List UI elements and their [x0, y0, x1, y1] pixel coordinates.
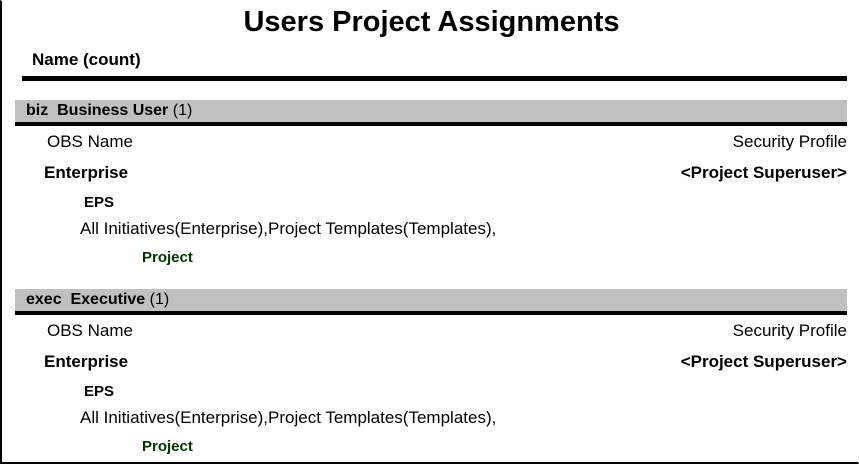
- eps-list-row-exec: All Initiatives(Enterprise),Project Temp…: [2, 407, 859, 429]
- page-title: Users Project Assignments: [2, 5, 859, 39]
- project-label: Project: [142, 436, 193, 457]
- eps-row-exec: EPS: [2, 381, 859, 403]
- column-header-obs-name: OBS Name: [47, 320, 133, 341]
- name-count-header: Name (count): [32, 50, 141, 70]
- group-name: Business User: [57, 102, 168, 119]
- group-band-biz-underline: [15, 122, 847, 126]
- column-header-obs-name: OBS Name: [47, 131, 133, 152]
- header-rule: [22, 76, 847, 81]
- group-band-biz[interactable]: biz Business User (1): [15, 100, 847, 122]
- eps-row-biz: EPS: [2, 192, 859, 214]
- project-label: Project: [142, 247, 193, 268]
- obs-name-value: Enterprise: [44, 351, 128, 372]
- group-band-exec-text: exec Executive (1): [26, 290, 169, 310]
- column-header-row-biz: OBS Name Security Profile: [2, 131, 859, 153]
- security-profile-value: <Project Superuser>: [681, 351, 847, 372]
- eps-list-value: All Initiatives(Enterprise),Project Temp…: [80, 407, 496, 428]
- group-count: (1): [150, 291, 170, 308]
- report-page: Users Project Assignments Name (count) b…: [0, 0, 859, 464]
- eps-list-value: All Initiatives(Enterprise),Project Temp…: [80, 218, 496, 239]
- obs-row-biz: Enterprise <Project Superuser>: [2, 162, 859, 184]
- group-code: exec: [26, 291, 62, 308]
- obs-name-value: Enterprise: [44, 162, 128, 183]
- group-band-biz-text: biz Business User (1): [26, 101, 192, 121]
- group-band-exec-underline: [15, 311, 847, 315]
- column-header-security-profile: Security Profile: [733, 320, 847, 341]
- obs-row-exec: Enterprise <Project Superuser>: [2, 351, 859, 373]
- group-code: biz: [26, 102, 48, 119]
- eps-list-row-biz: All Initiatives(Enterprise),Project Temp…: [2, 218, 859, 240]
- project-row-biz: Project: [2, 247, 859, 269]
- eps-label: EPS: [84, 381, 114, 402]
- group-band-exec[interactable]: exec Executive (1): [15, 289, 847, 311]
- column-header-row-exec: OBS Name Security Profile: [2, 320, 859, 342]
- group-name: Executive: [70, 291, 145, 308]
- column-header-security-profile: Security Profile: [733, 131, 847, 152]
- project-row-exec: Project: [2, 436, 859, 458]
- eps-label: EPS: [84, 192, 114, 213]
- security-profile-value: <Project Superuser>: [681, 162, 847, 183]
- group-count: (1): [173, 102, 193, 119]
